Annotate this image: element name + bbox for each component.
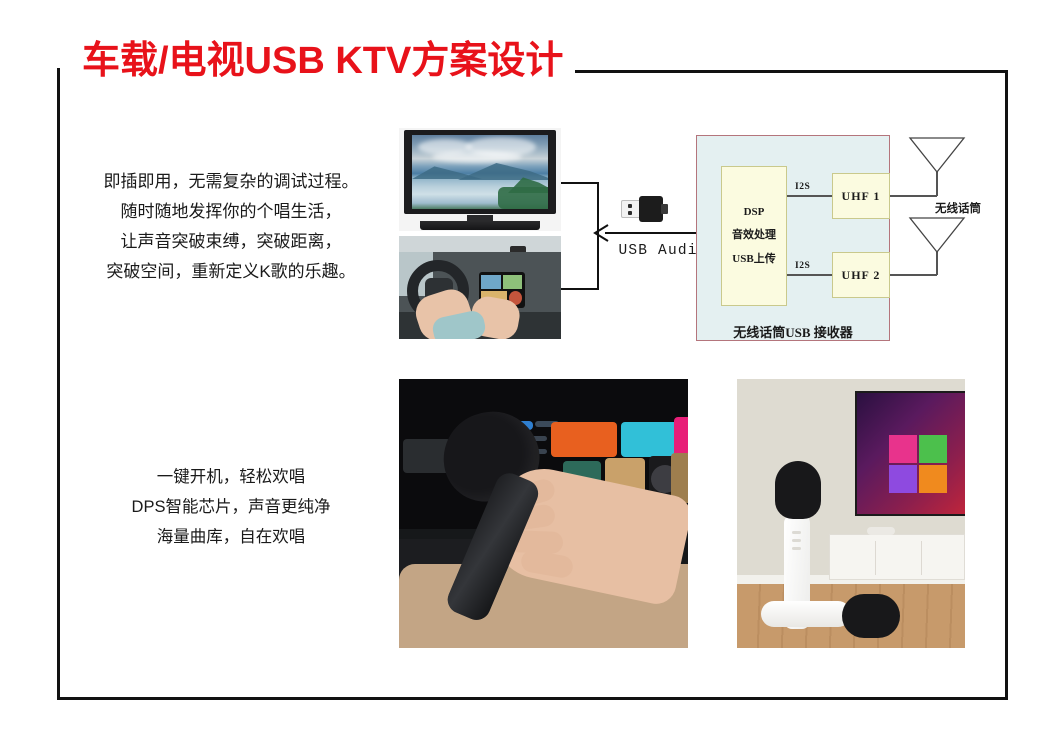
copy-bottom-line-2: DPS智能芯片，声音更纯净 — [76, 492, 386, 522]
microphone-lying-body — [761, 601, 851, 627]
antenna-icon-1 — [908, 136, 966, 174]
slide-canvas: 车载/电视USB KTV方案设计 即插即用，无需复杂的调试过程。 随时随地发挥你… — [0, 0, 1061, 749]
copy-bottom-line-3: 海量曲库，自在欢唱 — [76, 522, 386, 552]
connector-line-tv — [561, 182, 599, 184]
uhf2-block: UHF 2 — [832, 252, 890, 298]
copy-top-line-2: 随时随地发挥你的个唱生活， — [76, 197, 386, 227]
copy-top-line-1: 即插即用，无需复杂的调试过程。 — [76, 167, 386, 197]
usb-connector-icon — [621, 196, 667, 222]
living-room-tv — [855, 391, 965, 516]
tv-stand — [420, 221, 540, 230]
wireless-microphones-living-room-photo — [737, 379, 965, 648]
antenna-icon-2 — [908, 216, 966, 254]
usb-audio-line — [605, 232, 697, 234]
i2s-label-1: I2S — [795, 182, 810, 192]
antenna-feed-1 — [890, 195, 937, 197]
microphone-standing-head — [775, 461, 821, 519]
antenna-feed-2 — [890, 274, 937, 276]
copy-top-line-3: 让声音突破束缚，突破距离， — [76, 227, 386, 257]
tv-cabinet — [829, 534, 965, 580]
frame-bottom-border — [57, 697, 1008, 700]
dsp-line-3: USB上传 — [732, 250, 775, 266]
hand-holding-microphone-photo — [399, 379, 688, 648]
tv-bezel — [404, 130, 556, 214]
car-interior-photo — [399, 236, 561, 339]
connector-line-car — [561, 288, 599, 290]
copy-bottom-line-1: 一键开机，轻松欢唱 — [76, 462, 386, 492]
tv-screen — [412, 135, 548, 209]
dsp-block: DSP 音效处理 USB上传 — [721, 166, 787, 306]
i2s-line-1 — [787, 195, 832, 197]
antenna-stem-1 — [936, 172, 938, 196]
wireless-mic-label: 无线话筒 — [915, 200, 1001, 216]
dsp-line-2: 音效处理 — [732, 226, 776, 242]
feature-copy-bottom: 一键开机，轻松欢唱 DPS智能芯片，声音更纯净 海量曲库，自在欢唱 — [76, 462, 386, 552]
uhf1-block: UHF 1 — [832, 173, 890, 219]
dsp-title: DSP — [744, 206, 765, 218]
television-photo — [399, 128, 561, 231]
frame-left-border — [57, 68, 60, 700]
copy-top-line-4: 突破空间，重新定义K歌的乐趣。 — [76, 257, 386, 287]
i2s-line-2 — [787, 274, 832, 276]
page-title: 车载/电视USB KTV方案设计 — [82, 41, 563, 83]
microphone-lying-head — [842, 594, 900, 638]
receiver-label: 无线话筒USB 接收器 — [696, 322, 890, 341]
frame-right-border — [1005, 70, 1008, 700]
i2s-label-2: I2S — [795, 261, 810, 271]
frame-top-border — [575, 70, 1008, 73]
antenna-stem-2 — [936, 252, 938, 275]
feature-copy-top: 即插即用，无需复杂的调试过程。 随时随地发挥你的个唱生活， 让声音突破束缚，突破… — [76, 167, 386, 287]
